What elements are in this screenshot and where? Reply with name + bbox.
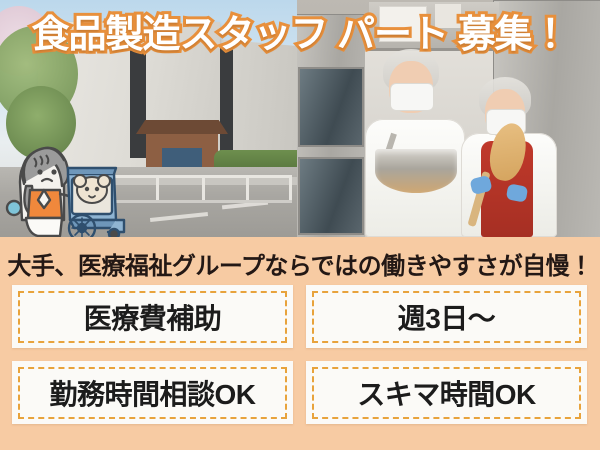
benefit-chip-spare-time: スキマ時間OK	[306, 361, 587, 424]
face-mask	[390, 83, 434, 111]
benefit-label: 週3日〜	[398, 297, 496, 337]
benefit-chip-border: 勤務時間相談OK	[18, 367, 287, 419]
benefit-chip-three-days-week: 週3日〜	[306, 285, 587, 348]
mixing-bowl	[375, 149, 457, 193]
benefit-chip-flexible-hours: 勤務時間相談OK	[12, 361, 293, 424]
road-marking	[150, 212, 208, 222]
cabinet-door	[298, 67, 364, 147]
benefit-label: スキマ時間OK	[357, 373, 536, 413]
facade-stripe	[130, 46, 146, 158]
cabinet-door	[298, 157, 364, 235]
banner-title: 食品製造スタッフ パート 募集！	[0, 3, 600, 58]
benefit-label: 勤務時間相談OK	[49, 373, 255, 413]
benefits-grid: 医療費補助 週3日〜 勤務時間相談OK スキマ時間OK	[12, 285, 588, 424]
benefit-chip-border: 医療費補助	[18, 291, 287, 343]
guard-fence	[112, 175, 292, 203]
info-panel: 大手、医療福祉グループならではの働きやすさが自慢！ 医療費補助 週3日〜 勤務時…	[0, 237, 600, 450]
banner-subtitle: 大手、医療福祉グループならではの働きやすさが自慢！	[0, 246, 600, 281]
blue-glove	[506, 183, 528, 202]
benefit-chip-border: 週3日〜	[312, 291, 581, 343]
kitchen-staff-with-paddle	[455, 59, 567, 237]
benefit-chip-medical-subsidy: 医療費補助	[12, 285, 293, 348]
recruitment-banner: 食品製造スタッフ パート 募集！ 大手、医療福祉グループならではの働きやすさが自…	[0, 0, 600, 450]
caregiver-and-wheelchair-mascot	[4, 124, 128, 242]
benefit-label: 医療費補助	[84, 297, 222, 337]
benefit-chip-border: スキマ時間OK	[312, 367, 581, 419]
